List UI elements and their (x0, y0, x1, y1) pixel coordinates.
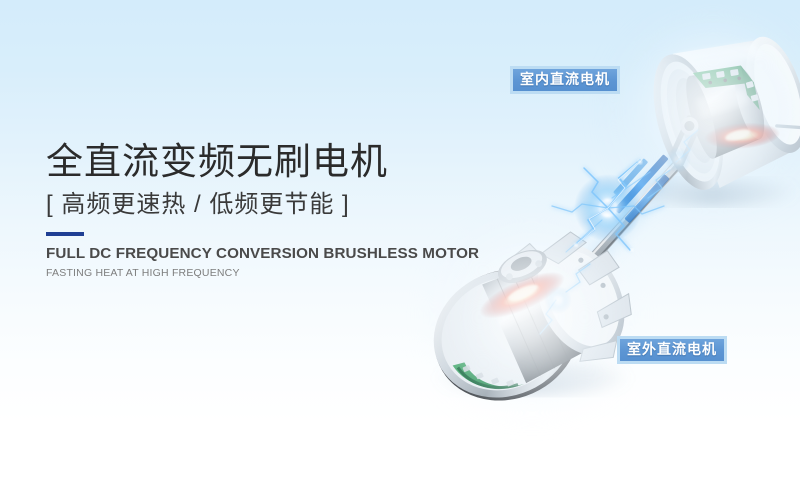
accent-rule (46, 232, 84, 236)
indoor-motor-pcb (693, 58, 762, 125)
electric-arc-effect (540, 130, 698, 334)
callout-label-outdoor-motor: 室外直流电机 (617, 336, 727, 364)
page-title-english: FULL DC FREQUENCY CONVERSION BRUSHLESS M… (46, 244, 506, 263)
headline-block: 全直流变频无刷电机 [ 高频更速热 / 低频更节能 ] FULL DC FREQ… (46, 140, 506, 280)
indoor-dc-motor (626, 22, 800, 205)
product-feature-banner: 全直流变频无刷电机 [ 高频更速热 / 低频更节能 ] FULL DC FREQ… (0, 0, 800, 481)
page-subtitle: [ 高频更速热 / 低频更节能 ] (46, 190, 506, 220)
callout-label-indoor-motor: 室内直流电机 (510, 66, 620, 94)
indoor-motor-glow (618, 22, 800, 202)
connecting-shaft (529, 140, 701, 329)
page-title: 全直流变频无刷电机 (46, 140, 506, 184)
blue-stripe-markers (605, 146, 679, 223)
page-subtitle-english: FASTING HEAT AT HIGH FREQUENCY (46, 266, 506, 280)
